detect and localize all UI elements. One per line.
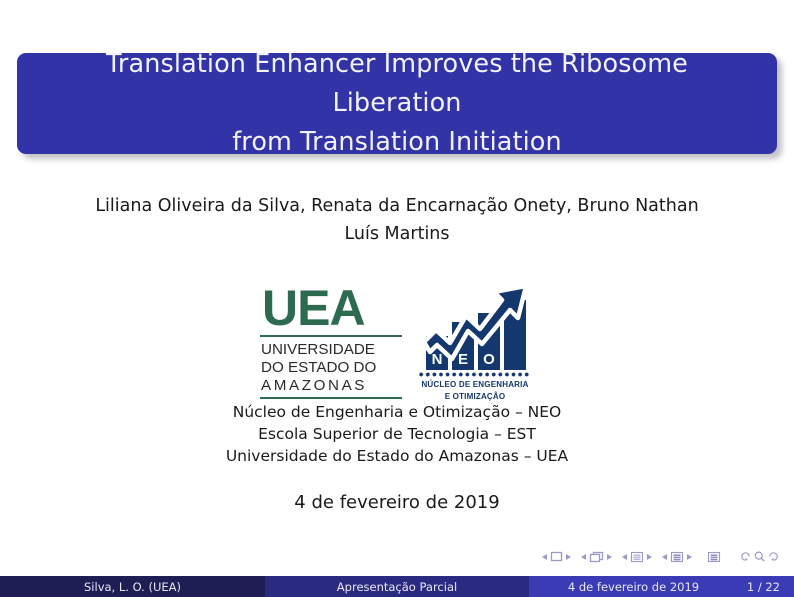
- institution-lines: Núcleo de Engenharia e Otimização – NEO …: [0, 401, 794, 467]
- search-circle-icon[interactable]: [753, 550, 766, 563]
- uea-subtitle-lines: UNIVERSIDADE DO ESTADO DO: [261, 341, 376, 376]
- neo-letter-n: N: [432, 351, 443, 368]
- nav-circle-group[interactable]: [739, 550, 780, 563]
- uea-subtitle-amazonas: AMAZONAS: [261, 377, 367, 394]
- nav-group-frame[interactable]: [581, 551, 612, 563]
- footer-author: Silva, L. O. (UEA): [0, 576, 265, 597]
- frame-stacked-squares-icon[interactable]: [589, 551, 604, 563]
- prev-slide-arrow-icon[interactable]: [542, 554, 547, 560]
- next-frame-arrow-icon[interactable]: [607, 554, 612, 560]
- neo-bars-arrow-icon: N E O: [416, 280, 534, 372]
- beamer-navigation-symbols[interactable]: [542, 550, 780, 563]
- footer-title: Apresentação Parcial: [265, 576, 529, 597]
- neo-letter-e: E: [458, 351, 468, 368]
- slide-footer: Silva, L. O. (UEA) Apresentação Parcial …: [0, 576, 794, 597]
- prev-section-arrow-icon[interactable]: [662, 554, 667, 560]
- forward-circle-icon[interactable]: [767, 550, 780, 563]
- document-lines-icon[interactable]: [707, 551, 721, 563]
- uea-divider-bottom: [260, 397, 402, 399]
- neo-caption: NÚCLEO DE ENGENHARIA E OTIMIZAÇÃO: [416, 379, 534, 402]
- section-lines-icon[interactable]: [670, 551, 684, 563]
- prev-frame-arrow-icon[interactable]: [581, 554, 586, 560]
- footer-right: 4 de fevereiro de 2019 1 / 22: [529, 576, 794, 597]
- title-block: Translation Enhancer Improves the Riboso…: [17, 53, 777, 154]
- back-circle-icon[interactable]: [739, 550, 752, 563]
- nav-group-slide[interactable]: [542, 551, 571, 562]
- neo-letter-o: O: [483, 351, 495, 368]
- uea-logo: UEA UNIVERSIDADE DO ESTADO DOAMAZONAS: [260, 280, 402, 399]
- logo-row: UEA UNIVERSIDADE DO ESTADO DOAMAZONAS N …: [0, 280, 794, 402]
- nav-group-subsection[interactable]: [622, 551, 652, 563]
- uea-subtitle: UNIVERSIDADE DO ESTADO DOAMAZONAS: [260, 341, 402, 394]
- uea-wordmark: UEA: [260, 284, 402, 332]
- prev-subsection-arrow-icon[interactable]: [622, 554, 627, 560]
- next-slide-arrow-icon[interactable]: [566, 554, 571, 560]
- page-title: Translation Enhancer Improves the Riboso…: [47, 45, 747, 161]
- slide-square-icon[interactable]: [550, 551, 563, 562]
- footer-page-number: 1 / 22: [747, 580, 780, 594]
- slide-date: 4 de fevereiro de 2019: [0, 492, 794, 513]
- neo-dotted-divider: [419, 372, 531, 377]
- neo-logo: N E O NÚCLEO DE ENGENHARIA E OTIMIZAÇÃO: [416, 280, 534, 402]
- authors-line: Liliana Oliveira da Silva, Renata da Enc…: [0, 192, 794, 249]
- subsection-lines-icon[interactable]: [630, 551, 644, 563]
- nav-group-section[interactable]: [662, 551, 692, 563]
- next-subsection-arrow-icon[interactable]: [647, 554, 652, 560]
- next-section-arrow-icon[interactable]: [687, 554, 692, 560]
